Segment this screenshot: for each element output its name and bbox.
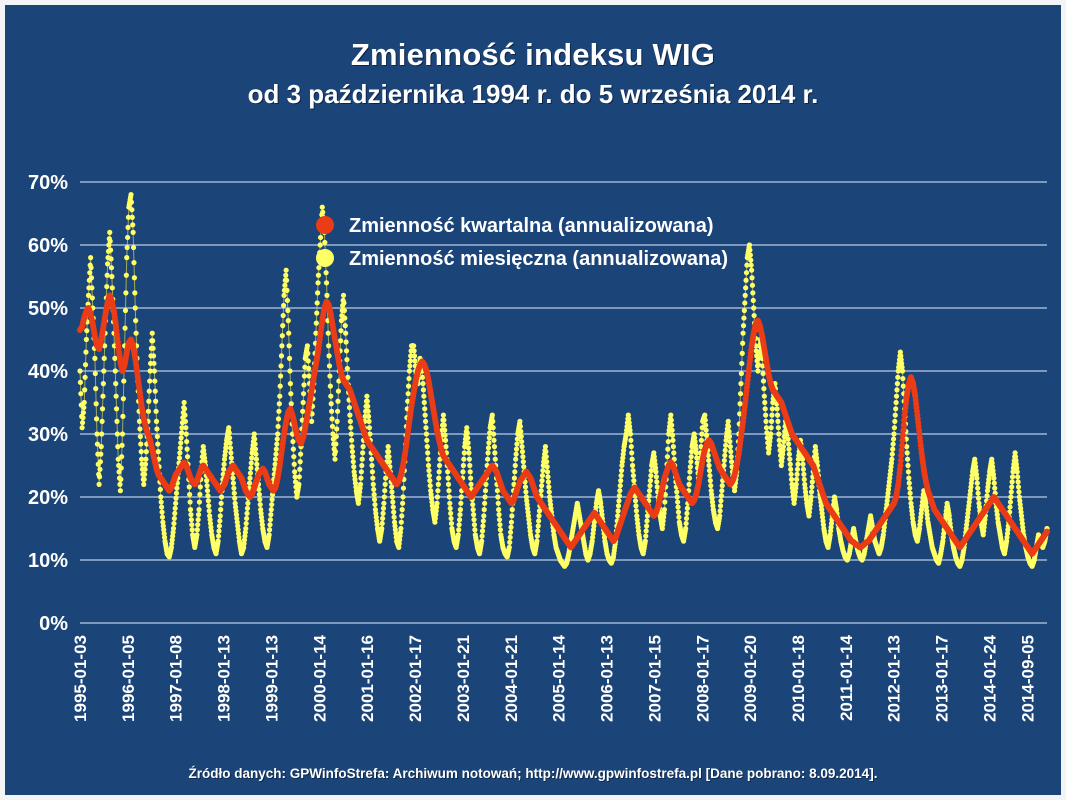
- volatility-chart-svg: 0%10%20%30%40%50%60%70% 1995-01-031996-0…: [5, 5, 1066, 805]
- series-markers-quarterly: [77, 292, 1050, 556]
- y-tick-label: 60%: [28, 235, 68, 257]
- legend-label: Zmienność miesięczna (annualizowana): [349, 248, 728, 270]
- x-tick-label: 2011-01-14: [837, 634, 856, 721]
- x-tick-label: 1996-01-05: [119, 635, 138, 722]
- y-tick-label: 30%: [28, 424, 68, 446]
- x-tick-label: 2014-09-05: [1019, 635, 1038, 722]
- x-tick-label: 2001-01-16: [358, 635, 377, 722]
- x-tick-label: 2000-01-14: [310, 634, 329, 722]
- x-tick-label: 2005-01-14: [550, 634, 569, 722]
- y-tick-label: 20%: [28, 487, 68, 509]
- x-tick-label: 2004-01-21: [502, 635, 521, 722]
- x-tick-label: 2008-01-17: [693, 635, 712, 722]
- x-tick-label: 2003-01-21: [454, 635, 473, 722]
- x-tick-label: 1999-01-13: [263, 635, 282, 722]
- x-tick-label: 2012-01-13: [885, 635, 904, 722]
- x-tick-label: 2002-01-17: [406, 635, 425, 722]
- x-tick-label: 2013-01-17: [933, 635, 952, 722]
- x-tick-label: 1997-01-08: [167, 635, 186, 722]
- legend-label: Zmienność kwartalna (annualizowana): [349, 215, 714, 237]
- y-tick-label: 10%: [28, 550, 68, 572]
- y-tick-label: 0%: [39, 613, 68, 635]
- x-axis-labels: 1995-01-031996-01-051997-01-081998-01-13…: [71, 634, 1038, 722]
- x-tick-label: 2009-01-20: [741, 635, 760, 722]
- legend-marker-quarterly: [316, 216, 334, 234]
- source-note: Źródło danych: GPWinfoStrefa: Archiwum n…: [5, 766, 1061, 781]
- legend-marker-monthly: [316, 249, 334, 267]
- x-tick-label: 2006-01-13: [598, 635, 617, 722]
- x-tick-label: 1995-01-03: [71, 635, 90, 722]
- y-tick-label: 40%: [28, 361, 68, 383]
- x-tick-label: 2010-01-18: [789, 635, 808, 722]
- x-tick-label: 2014-01-24: [981, 634, 1000, 722]
- x-tick-label: 1998-01-13: [215, 635, 234, 722]
- y-tick-label: 50%: [28, 298, 68, 320]
- y-tick-label: 70%: [28, 172, 68, 194]
- chart-legend: Zmienność kwartalna (annualizowana)Zmien…: [316, 215, 728, 270]
- y-axis-labels: 0%10%20%30%40%50%60%70%: [28, 172, 68, 635]
- chart-container: Zmienność indeksu WIG od 3 października …: [0, 0, 1066, 800]
- x-tick-label: 2007-01-15: [645, 635, 664, 722]
